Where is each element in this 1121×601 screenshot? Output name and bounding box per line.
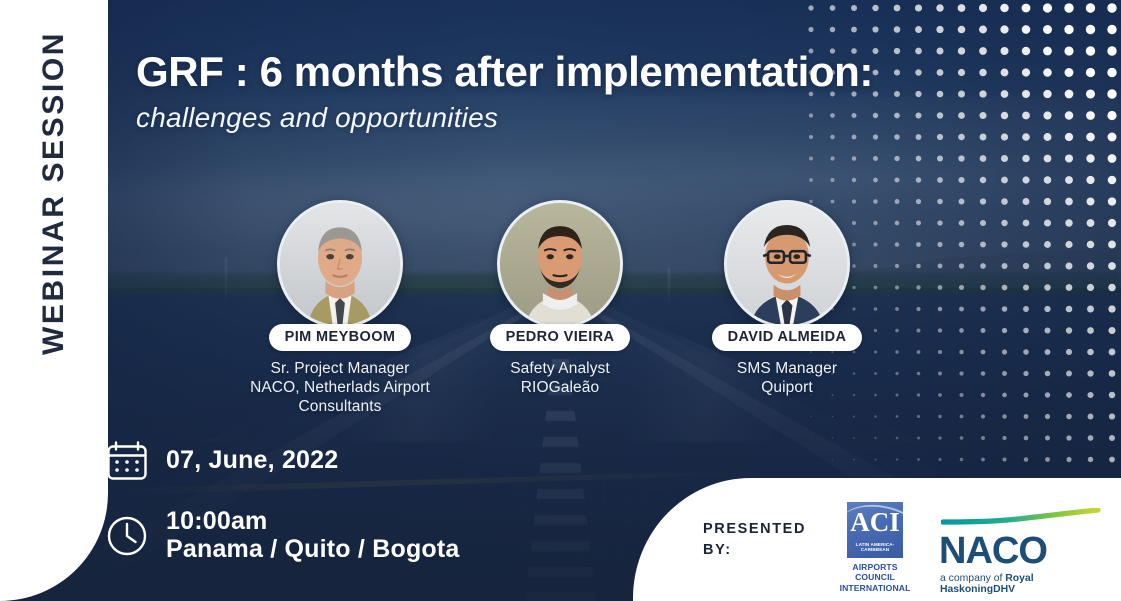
- aci-logo[interactable]: ACI LATIN AMERICA-CARIBBEAN AIRPORTS COU…: [835, 502, 915, 593]
- speaker-portrait-pedro-vieira: [497, 200, 623, 328]
- naco-tagline-prefix: a company of: [940, 573, 1005, 584]
- speaker-portrait-david-almeida: [724, 200, 850, 328]
- page-subtitle: challenges and opportunities: [136, 102, 873, 134]
- event-time-row: 10:00am Panama / Quito / Bogota: [104, 508, 460, 563]
- speaker-role-line: Consultants: [299, 398, 382, 415]
- speaker-portrait-pim-meyboom: [277, 200, 403, 328]
- speaker-role-line: SMS Manager: [737, 360, 837, 377]
- speaker-name-pill: PEDRO VIEIRA: [490, 324, 631, 351]
- speaker-role-line: NACO, Netherlads Airport: [250, 379, 430, 396]
- speaker-name-pill: PIM MEYBOOM: [269, 324, 412, 351]
- naco-tagline: a company of Royal HaskoningDHV: [940, 573, 1111, 596]
- clock-icon: [104, 513, 150, 559]
- aci-logo-wordmark: AIRPORTS COUNCIL INTERNATIONAL: [835, 562, 915, 593]
- speaker-role-line: RIOGaleão: [521, 379, 599, 396]
- speaker-card: PIM MEYBOOM Sr. Project Manager NACO, Ne…: [220, 200, 460, 417]
- speaker-role: SMS Manager Quiport: [667, 360, 907, 398]
- naco-swoosh-icon: [941, 508, 1101, 528]
- event-timezone: Panama / Quito / Bogota: [166, 536, 460, 564]
- presented-by-line1: PRESENTED: [703, 520, 806, 536]
- presented-by-label: PRESENTED BY:: [703, 518, 806, 560]
- webinar-banner: WEBINAR SESSION GRF : 6 months after imp…: [0, 0, 1121, 601]
- title-block: GRF : 6 months after implementation: cha…: [136, 48, 873, 134]
- speaker-role-line: Safety Analyst: [510, 360, 610, 377]
- aci-region-label: LATIN AMERICA-CARIBBEAN: [847, 542, 903, 552]
- speaker-role-line: Sr. Project Manager: [271, 360, 410, 377]
- naco-wordmark: NACO: [939, 532, 1111, 570]
- aci-name-line1: AIRPORTS COUNCIL: [852, 562, 897, 582]
- aci-monogram: ACI: [847, 509, 903, 536]
- speaker-card: DAVID ALMEIDA SMS Manager Quiport: [667, 200, 907, 398]
- speaker-card: PEDRO VIEIRA Safety Analyst RIOGaleão: [440, 200, 680, 398]
- webinar-session-label: WEBINAR SESSION: [37, 19, 71, 367]
- presented-by-line2: BY:: [703, 542, 732, 558]
- speaker-role: Safety Analyst RIOGaleão: [440, 360, 680, 398]
- speaker-name-pill: DAVID ALMEIDA: [712, 324, 863, 351]
- aci-logo-mark: ACI LATIN AMERICA-CARIBBEAN: [847, 502, 903, 558]
- naco-logo[interactable]: NACO a company of Royal HaskoningDHV: [933, 508, 1111, 596]
- event-time-block: 10:00am Panama / Quito / Bogota: [166, 508, 460, 563]
- event-date: 07, June, 2022: [166, 447, 338, 475]
- aci-name-line2: INTERNATIONAL: [840, 583, 911, 593]
- event-date-row: 07, June, 2022: [104, 438, 460, 484]
- presented-by-panel: PRESENTED BY: ACI LATIN AMERICA-CARIBBEA…: [633, 478, 1121, 601]
- speaker-role-line: Quiport: [761, 379, 813, 396]
- calendar-icon: [104, 438, 150, 484]
- event-details: 07, June, 2022 10:00am Panama / Quito / …: [104, 438, 460, 587]
- speaker-role: Sr. Project Manager NACO, Netherlads Air…: [220, 360, 460, 417]
- page-title: GRF : 6 months after implementation:: [136, 48, 873, 96]
- event-time: 10:00am: [166, 507, 267, 535]
